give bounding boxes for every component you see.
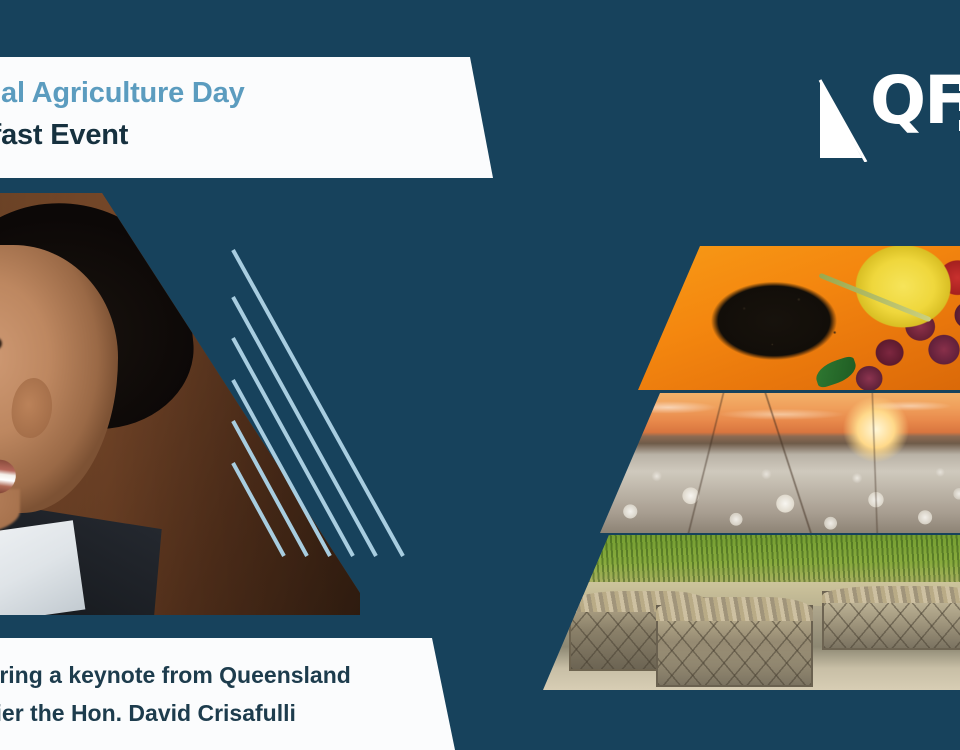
title-line-2: Breakfast Event xyxy=(0,119,128,152)
qff-logo: QFF xyxy=(812,70,960,162)
cane-bin-load xyxy=(656,597,813,620)
cane-bin-load xyxy=(822,586,960,602)
cane-field xyxy=(543,535,960,585)
portrait-shirt xyxy=(0,520,85,615)
cotton-field-image xyxy=(600,393,960,533)
caption-band: Featuring a keynote from Queensland Prem… xyxy=(0,638,470,750)
papaya-seeds xyxy=(713,286,869,361)
cotton-branches xyxy=(600,393,960,533)
cotton-photo xyxy=(600,393,960,533)
title-line-2-text: Breakfast Event xyxy=(0,119,128,152)
fruit-photo xyxy=(638,246,960,390)
title-line-1-text: National Agriculture Day xyxy=(0,77,245,110)
title-band: National Agriculture Day Breakfast Event xyxy=(0,57,500,178)
caption-line-1: Featuring a keynote from Queensland xyxy=(0,662,351,689)
presentation-slide: National Agriculture Day Breakfast Event… xyxy=(0,0,960,750)
cane-bin-front xyxy=(656,605,813,687)
caption-line-2: Premier the Hon. David Crisafulli xyxy=(0,700,296,727)
cane-bin-far xyxy=(822,591,960,650)
fruit-image xyxy=(638,246,960,390)
qff-sail-mark-icon xyxy=(812,70,868,162)
caption-line-1-text: Featuring a keynote from Queensland xyxy=(0,662,351,689)
speaker-portrait xyxy=(0,193,360,615)
sugarcane-image xyxy=(543,535,960,690)
caption-line-2-text: Premier the Hon. David Crisafulli xyxy=(0,700,296,727)
qff-wordmark: QFF xyxy=(870,68,960,134)
title-line-1: National Agriculture Day xyxy=(0,77,245,110)
sugarcane-photo xyxy=(543,535,960,690)
